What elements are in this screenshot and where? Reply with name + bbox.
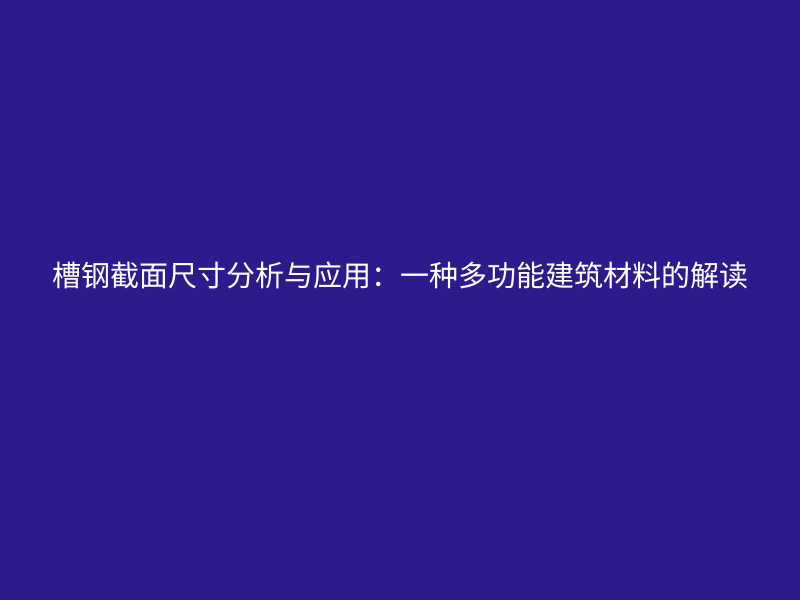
title-block: 槽钢截面尺寸分析与应用：一种多功能建筑材料的解读 (0, 251, 800, 301)
title-slide: 槽钢截面尺寸分析与应用：一种多功能建筑材料的解读 (0, 0, 800, 600)
page-title: 槽钢截面尺寸分析与应用：一种多功能建筑材料的解读 (40, 251, 760, 301)
